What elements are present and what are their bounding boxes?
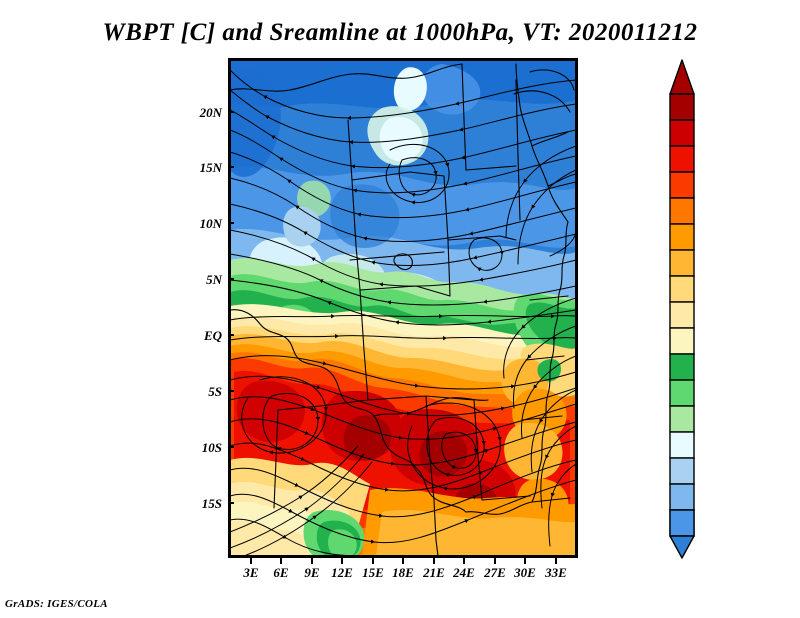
colorbar[interactable]: 26 25 24 23 22 21 20 19 18 17 16 15 14 1…: [668, 58, 788, 560]
y-axis-label-EQ: EQ: [176, 328, 222, 344]
colorbar-top-arrow: [670, 60, 694, 94]
y-axis-tick: [228, 502, 234, 504]
credit-text: GrADS: IGES/COLA: [5, 598, 108, 610]
y-axis-tick: [228, 222, 234, 224]
grads-figure: WBPT [C] and Sreamline at 1000hPa, VT: 2…: [0, 0, 800, 618]
x-axis-tick: [433, 558, 435, 564]
y-axis-tick: [228, 334, 234, 336]
y-axis-label-15N: 15N: [176, 160, 222, 176]
x-axis-tick: [494, 558, 496, 564]
x-axis-tick: [280, 558, 282, 564]
x-axis-tick: [311, 558, 313, 564]
colorbar-swatches: [668, 58, 702, 560]
filled-contours: [230, 60, 576, 556]
page-title: WBPT [C] and Sreamline at 1000hPa, VT: 2…: [0, 19, 800, 47]
colorbar-bottom-arrow: [670, 536, 694, 558]
x-axis-tick: [463, 558, 465, 564]
x-axis-tick: [555, 558, 557, 564]
y-axis-tick: [228, 446, 234, 448]
x-axis-label-33E: 33E: [536, 565, 576, 581]
map-plot-area[interactable]: [228, 58, 578, 558]
y-axis-tick: [228, 390, 234, 392]
y-axis-tick: [228, 111, 234, 113]
y-axis-label-20N: 20N: [176, 105, 222, 121]
y-axis-tick: [228, 166, 234, 168]
map-canvas: [230, 60, 576, 556]
y-axis-tick: [228, 278, 234, 280]
x-axis-tick: [250, 558, 252, 564]
y-axis-label-5S: 5S: [176, 384, 222, 400]
x-axis-tick: [524, 558, 526, 564]
x-axis-tick: [402, 558, 404, 564]
y-axis-label-10N: 10N: [176, 216, 222, 232]
x-axis-tick: [372, 558, 374, 564]
y-axis-label-15S: 15S: [176, 496, 222, 512]
y-axis-label-10S: 10S: [176, 440, 222, 456]
x-axis-tick: [341, 558, 343, 564]
y-axis-label-5N: 5N: [176, 272, 222, 288]
